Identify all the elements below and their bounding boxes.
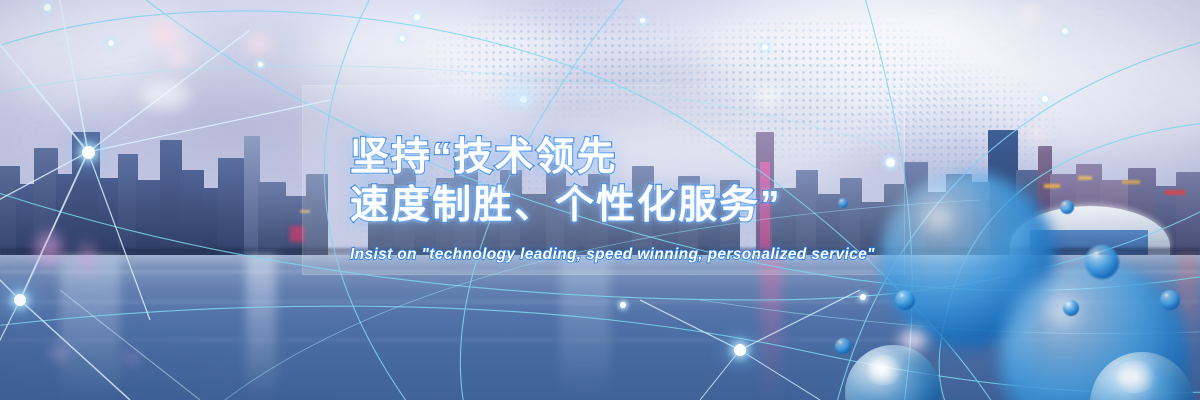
network-node [400, 36, 405, 41]
light-flare [1028, 126, 1046, 142]
hero-banner: 坚持“技术领先 速度制胜、个性化服务” Insist on "technolog… [0, 0, 1200, 400]
light-flare [246, 34, 272, 54]
network-node [762, 44, 768, 50]
headline-block: 坚持“技术领先 速度制胜、个性化服务” Insist on "technolog… [350, 134, 970, 264]
light-flare [36, 232, 62, 266]
headline-line-2: 速度制胜、个性化服务” [350, 182, 970, 230]
network-node [44, 4, 51, 11]
network-node [640, 18, 645, 23]
light-flare [150, 22, 180, 46]
headline-line-1: 坚持“技术领先 [350, 134, 970, 182]
network-node [82, 146, 95, 159]
network-node [734, 344, 746, 356]
light-flare [78, 244, 96, 274]
light-flare [126, 352, 138, 364]
network-node [414, 14, 420, 20]
network-node [108, 40, 114, 46]
network-node [258, 62, 263, 67]
light-flare [1020, 6, 1040, 22]
light-flare [140, 80, 190, 110]
light-flare [52, 346, 66, 360]
network-node [14, 294, 26, 306]
network-node [860, 294, 866, 300]
light-flare [500, 82, 536, 108]
light-flare [756, 88, 780, 106]
network-node [1042, 96, 1048, 102]
network-node [1062, 28, 1068, 34]
network-node [620, 302, 626, 308]
headline-subtitle: Insist on "technology leading, speed win… [350, 246, 970, 264]
light-flare [168, 48, 190, 66]
